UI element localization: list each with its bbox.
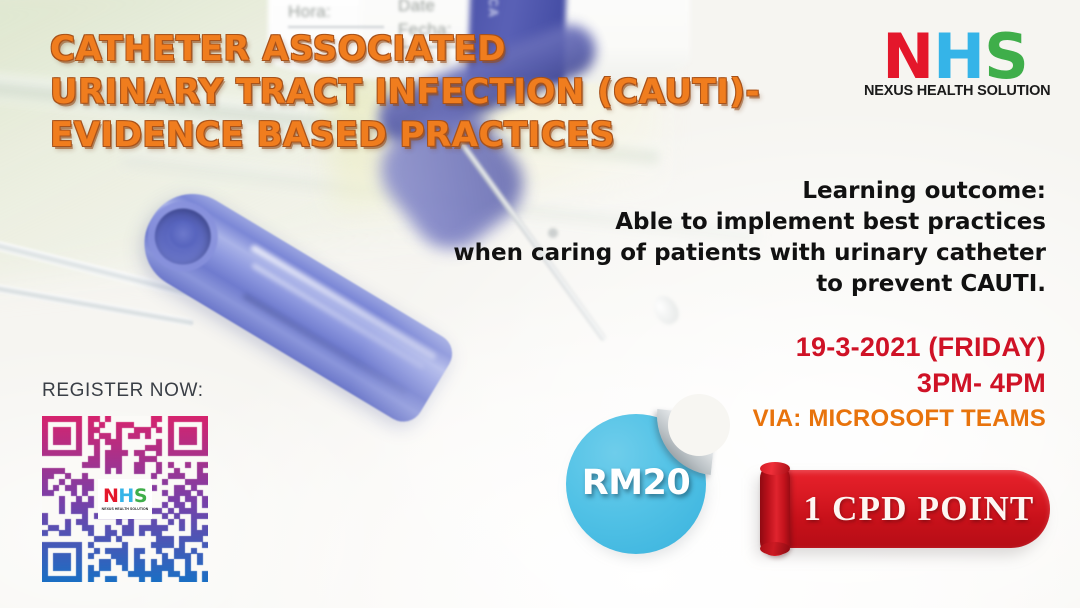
price-badge-amount: RM20 [566,464,706,502]
nhs-logo-letters: NHS [864,26,1046,88]
title-line-3: EVIDENCE BASED PRACTICES [50,114,730,157]
cpd-banner-roll-bottom [760,542,790,555]
event-time: 3PM- 4PM [486,364,1046,402]
nhs-logo-subtitle: NEXUS HEALTH SOLUTION [864,83,1046,99]
register-now-label: REGISTER NOW: [42,380,208,402]
register-block: REGISTER NOW: NHS NEXUS HEALTH SOLUTION [42,380,208,582]
cpd-banner: 1 CPD POINT [742,462,1050,562]
qr-nhs-letter-n: N [103,485,118,507]
title-line-2: URINARY TRACT INFECTION (CAUTI)- [50,71,730,114]
title-line-1: CATHETER ASSOCIATED [50,28,730,71]
learning-outcome-block: Learning outcome: Able to implement best… [386,176,1046,300]
cpd-banner-text: 1 CPD POINT [794,470,1044,548]
learning-outcome-line-1: Able to implement best practices [386,207,1046,238]
learning-outcome-line-2: when caring of patients with urinary cat… [386,238,1046,269]
qr-code[interactable]: NHS NEXUS HEALTH SOLUTION [42,416,208,582]
poster-title: CATHETER ASSOCIATED URINARY TRACT INFECT… [50,28,730,157]
poster-canvas: Hora: Date Fecha: ST PM CA OTO CATHETER … [0,0,1080,608]
qr-nhs-letter-h: H [118,485,133,507]
event-date: 19-3-2021 (FRIDAY) [486,330,1046,364]
nhs-logo: NHS NEXUS HEALTH SOLUTION [864,26,1046,99]
cpd-banner-roll-top [760,462,790,475]
qr-nhs-letters: NHS [103,487,147,506]
learning-outcome-heading: Learning outcome: [386,176,1046,207]
learning-outcome-line-3: to prevent CAUTI. [386,269,1046,300]
price-badge: RM20 [566,414,712,560]
qr-nhs-letter-s: S [134,485,147,507]
price-badge-peel-cutout [668,394,730,456]
qr-code-center-logo: NHS NEXUS HEALTH SOLUTION [98,479,152,519]
qr-nhs-subtitle: NEXUS HEALTH SOLUTION [102,507,149,511]
